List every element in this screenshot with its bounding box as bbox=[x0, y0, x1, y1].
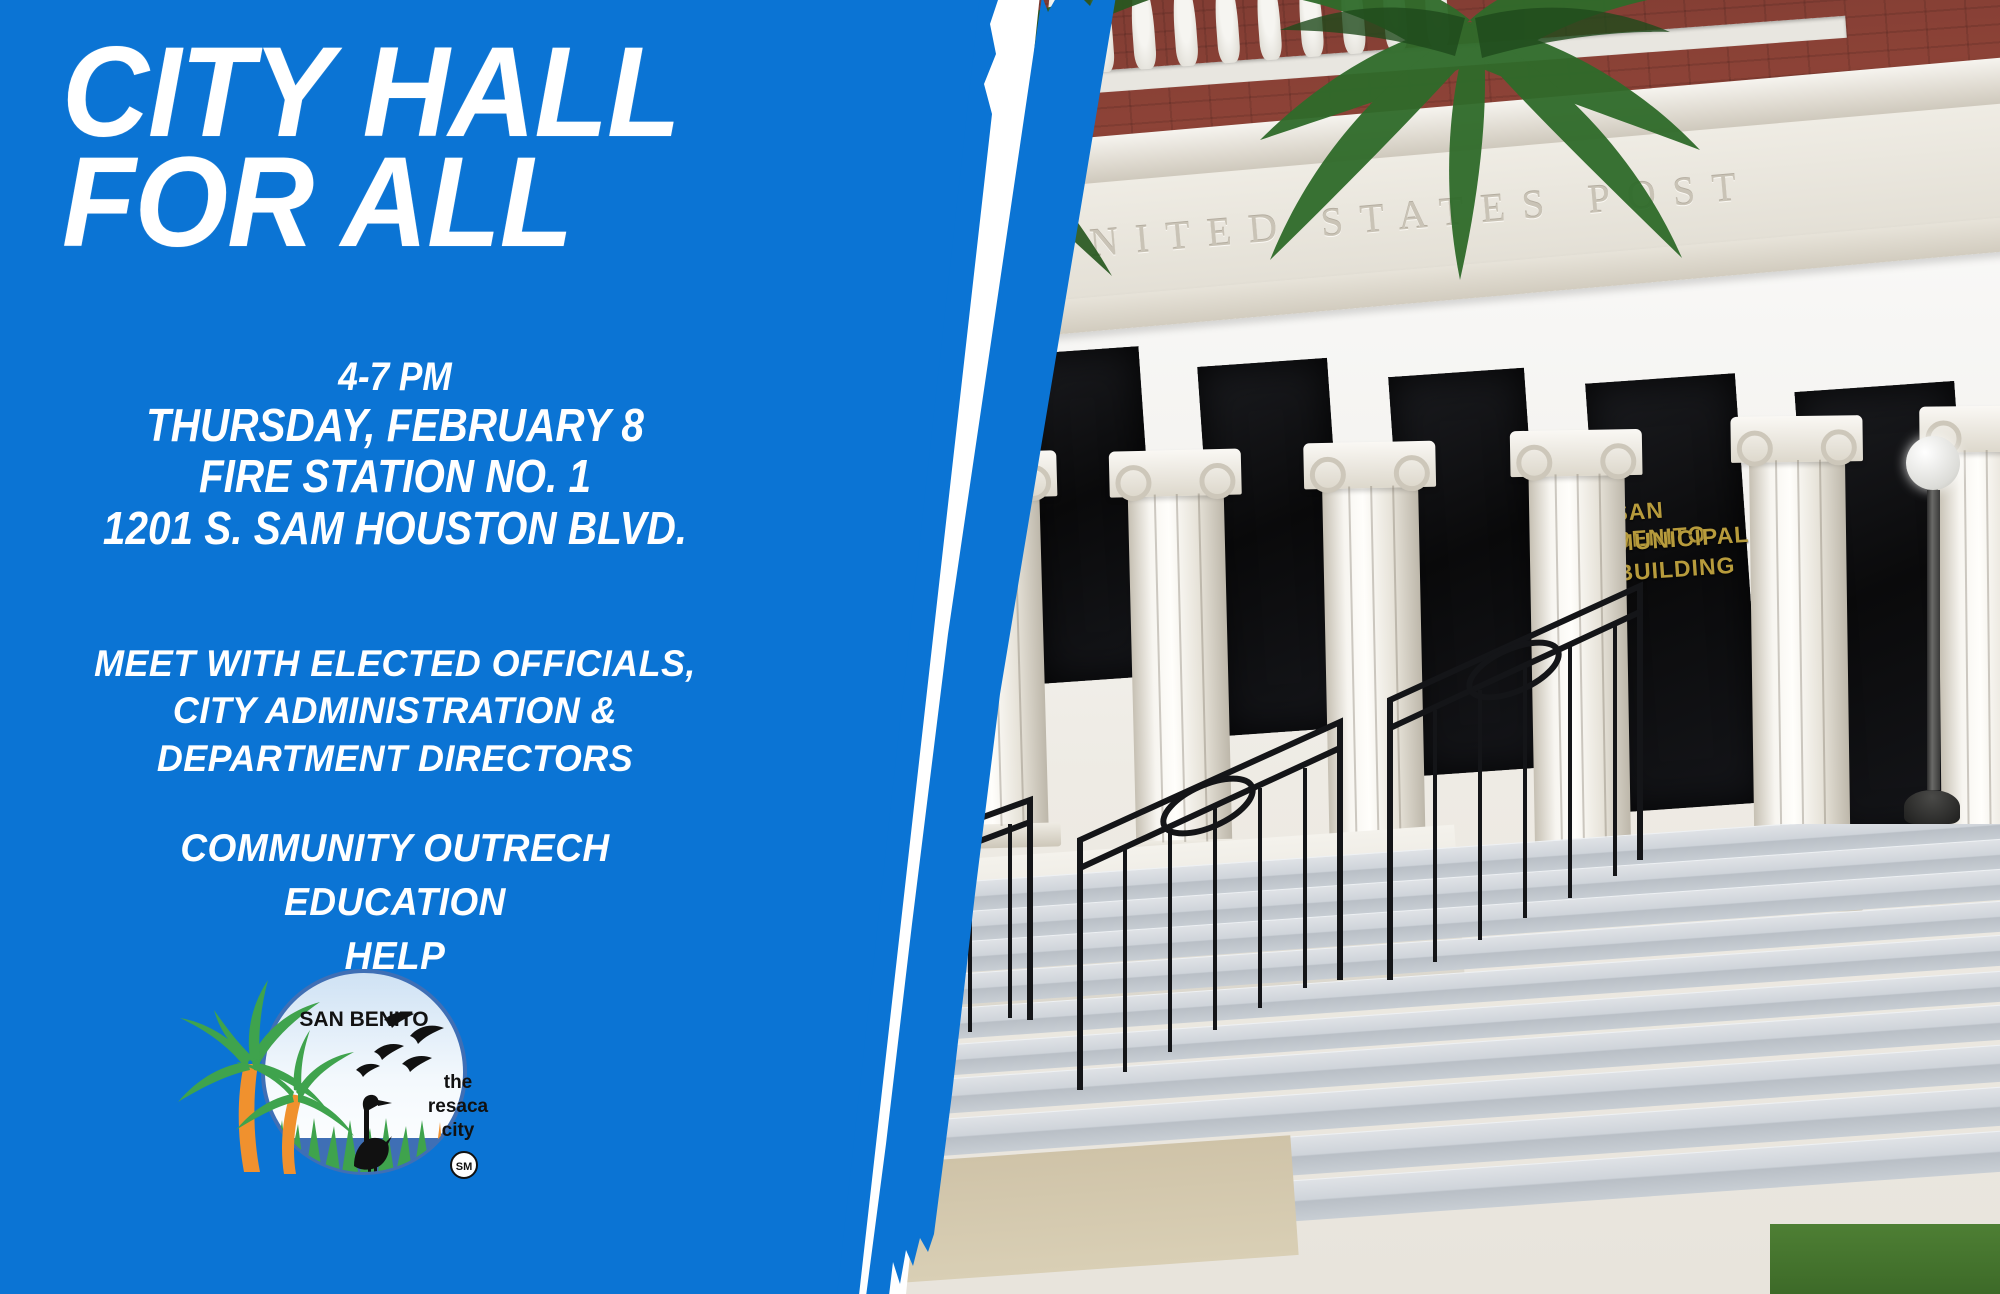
meet-with-line-2: CITY ADMINISTRATION & bbox=[12, 687, 778, 734]
headline-line-2: FOR ALL bbox=[62, 148, 739, 258]
event-venue: FIRE STATION NO. 1 bbox=[47, 451, 742, 503]
lamp-post bbox=[1906, 436, 1960, 824]
logo-side-text-1: the bbox=[444, 1072, 473, 1093]
logo-side-text-2: resaca bbox=[428, 1096, 489, 1117]
lamp-globe bbox=[1906, 436, 1960, 490]
event-date: THURSDAY, FEBRUARY 8 bbox=[47, 400, 742, 452]
event-time: 4-7 PM bbox=[47, 355, 742, 400]
event-address: 1201 S. SAM HOUSTON BLVD. bbox=[47, 503, 742, 555]
tagline-line-2: EDUCATION bbox=[20, 876, 771, 930]
logo-side-text-3: city bbox=[442, 1120, 475, 1141]
poster-canvas: UNITED STATES POST SAN BENITO MUNICIPAL … bbox=[0, 0, 2000, 1294]
event-details: 4-7 PM THURSDAY, FEBRUARY 8 FIRE STATION… bbox=[0, 355, 790, 554]
san-benito-city-logo: SAN BENITO the resaca city SM bbox=[178, 960, 498, 1190]
meet-with-block: MEET WITH ELECTED OFFICIALS, CITY ADMINI… bbox=[0, 640, 790, 782]
page-title: CITY HALL FOR ALL bbox=[62, 38, 739, 258]
poster-text-content: CITY HALL FOR ALL 4-7 PM THURSDAY, FEBRU… bbox=[0, 0, 790, 1294]
logo-top-text: SAN BENITO bbox=[299, 1008, 428, 1031]
meet-with-line-3: DEPARTMENT DIRECTORS bbox=[12, 735, 778, 782]
tagline-line-1: COMMUNITY OUTRECH bbox=[20, 822, 771, 876]
logo-service-mark: SM bbox=[456, 1161, 473, 1173]
lamp-base bbox=[1904, 790, 1960, 824]
meet-with-line-1: MEET WITH ELECTED OFFICIALS, bbox=[12, 640, 778, 687]
palm-fronds bbox=[1110, 0, 1810, 300]
lamp-column bbox=[1927, 490, 1940, 790]
